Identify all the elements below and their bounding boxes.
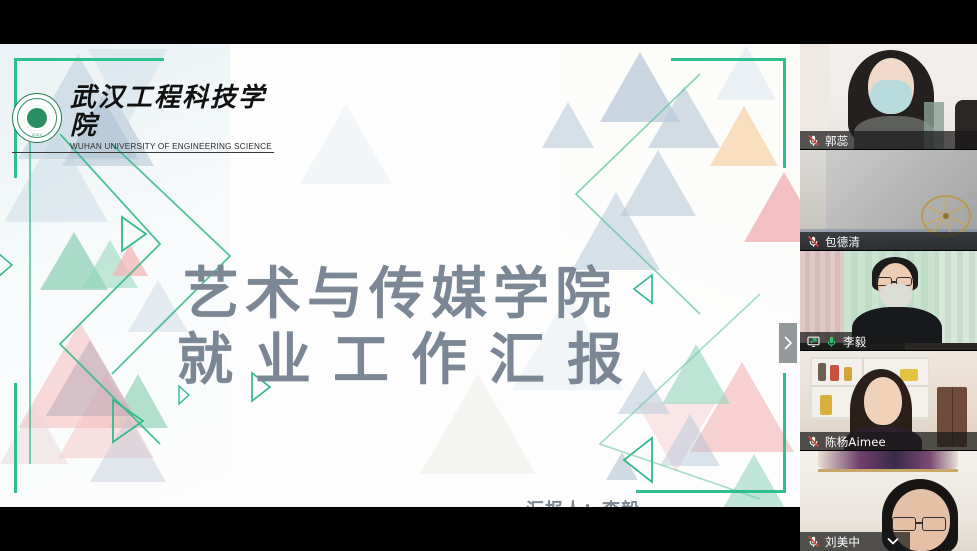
microphone-muted-icon (807, 435, 820, 448)
presentation-slide: 2004 武汉工程科技学院 WUHAN UNIVERSITY OF ENGINE… (0, 44, 800, 507)
participant-filmstrip[interactable]: 郭蕊 (800, 44, 977, 551)
participant-name: 陈杨Aimee (825, 434, 886, 450)
microphone-muted-icon (807, 235, 820, 248)
participant-tile-active-speaker[interactable]: 李毅 (800, 251, 977, 351)
participant-list-expand-button[interactable] (885, 533, 901, 549)
microphone-muted-icon (807, 535, 820, 548)
participant-name: 郭蕊 (825, 133, 848, 149)
microphone-muted-icon (807, 134, 820, 147)
chevron-right-icon (784, 336, 793, 350)
participant-tile[interactable]: 刘美中 (800, 451, 977, 551)
chevron-down-icon (885, 533, 901, 549)
expand-panel-arrow-button[interactable] (779, 323, 797, 363)
screen-share-icon (807, 335, 820, 348)
participant-namebar: 郭蕊 (800, 131, 977, 150)
participant-tile[interactable]: 陈杨Aimee (800, 351, 977, 451)
participant-namebar: 包德清 (800, 232, 977, 251)
participant-name: 包德清 (825, 234, 860, 250)
participant-tile[interactable]: 包德清 (800, 150, 977, 251)
logo-underline (12, 152, 274, 153)
microphone-active-icon (825, 335, 838, 348)
participant-name: 李毅 (843, 334, 866, 350)
video-conference-window: 2004 武汉工程科技学院 WUHAN UNIVERSITY OF ENGINE… (0, 0, 977, 551)
shared-screen-region[interactable]: 2004 武汉工程科技学院 WUHAN UNIVERSITY OF ENGINE… (0, 44, 800, 507)
seal-year: 2004 (13, 132, 61, 137)
slide-presenter-line: 汇报人：李毅 (526, 496, 640, 507)
university-name-en: WUHAN UNIVERSITY OF ENGINEERING SCIENCE (70, 142, 282, 151)
participant-namebar: 李毅 (800, 332, 905, 351)
participant-name: 刘美中 (825, 534, 860, 550)
university-seal-icon: 2004 (12, 93, 62, 143)
university-logo: 2004 武汉工程科技学院 WUHAN UNIVERSITY OF ENGINE… (12, 84, 282, 152)
participant-tile[interactable]: 郭蕊 (800, 44, 977, 150)
university-name-cn: 武汉工程科技学院 (70, 85, 282, 140)
participant-namebar: 陈杨Aimee (800, 432, 977, 451)
